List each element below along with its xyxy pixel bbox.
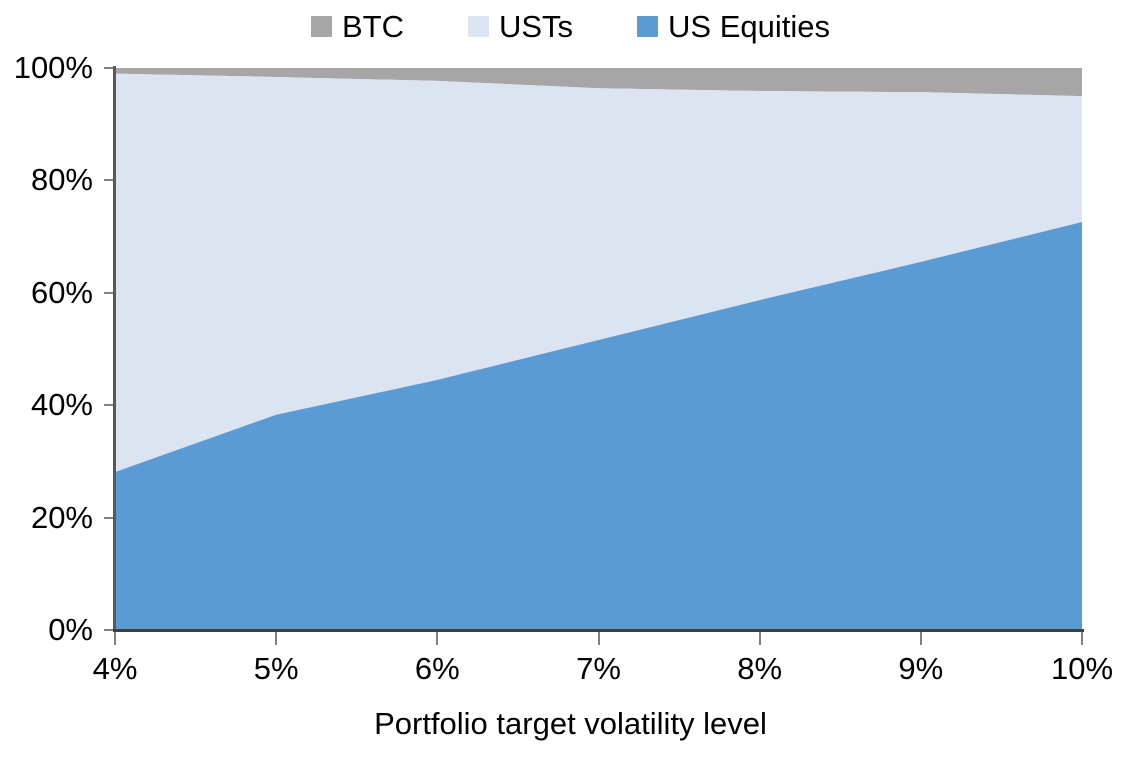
legend-label-btc: BTC [342,11,404,42]
x-tick-label: 4% [93,652,138,685]
x-tick-mark [759,632,761,645]
x-tick-mark [275,632,277,645]
y-axis: 100%80%60%40%20%0% [0,0,113,763]
y-tick-label: 60% [0,277,93,308]
legend-item-us-equities[interactable]: US Equities [637,11,830,42]
x-tick-label: 9% [898,652,943,685]
legend-swatch-us-equities [637,16,658,37]
x-tick-mark [920,632,922,645]
legend-item-btc[interactable]: BTC [311,11,404,42]
x-tick-mark [598,632,600,645]
x-tick-label: 6% [415,652,460,685]
y-tick-mark [104,404,113,406]
y-tick-mark [104,517,113,519]
y-tick-label: 0% [0,614,93,645]
chart-legend: BTC USTs US Equities [0,6,1141,46]
x-tick-mark [1081,632,1083,645]
area-series-svg [115,68,1082,630]
y-tick-mark [104,67,113,69]
legend-label-usts: USTs [499,11,573,42]
x-tick-label: 7% [576,652,621,685]
x-tick-label: 10% [1051,652,1113,685]
legend-label-us-equities: US Equities [668,11,830,42]
y-tick-mark [104,629,113,631]
y-tick-mark [104,179,113,181]
y-tick-label: 20% [0,502,93,533]
legend-swatch-btc [311,16,332,37]
y-tick-label: 80% [0,164,93,195]
legend-swatch-usts [468,16,489,37]
x-axis-title: Portfolio target volatility level [0,706,1141,741]
y-tick-mark [104,292,113,294]
plot-area [115,68,1082,630]
legend-item-usts[interactable]: USTs [468,11,573,42]
x-tick-mark [114,632,116,645]
y-tick-label: 100% [0,52,93,83]
x-tick-label: 5% [254,652,299,685]
stacked-area-chart: BTC USTs US Equities 100%80%60%40%20%0% … [0,0,1141,763]
x-tick-label: 8% [737,652,782,685]
y-tick-label: 40% [0,389,93,420]
y-axis-line [113,66,116,632]
x-tick-mark [436,632,438,645]
